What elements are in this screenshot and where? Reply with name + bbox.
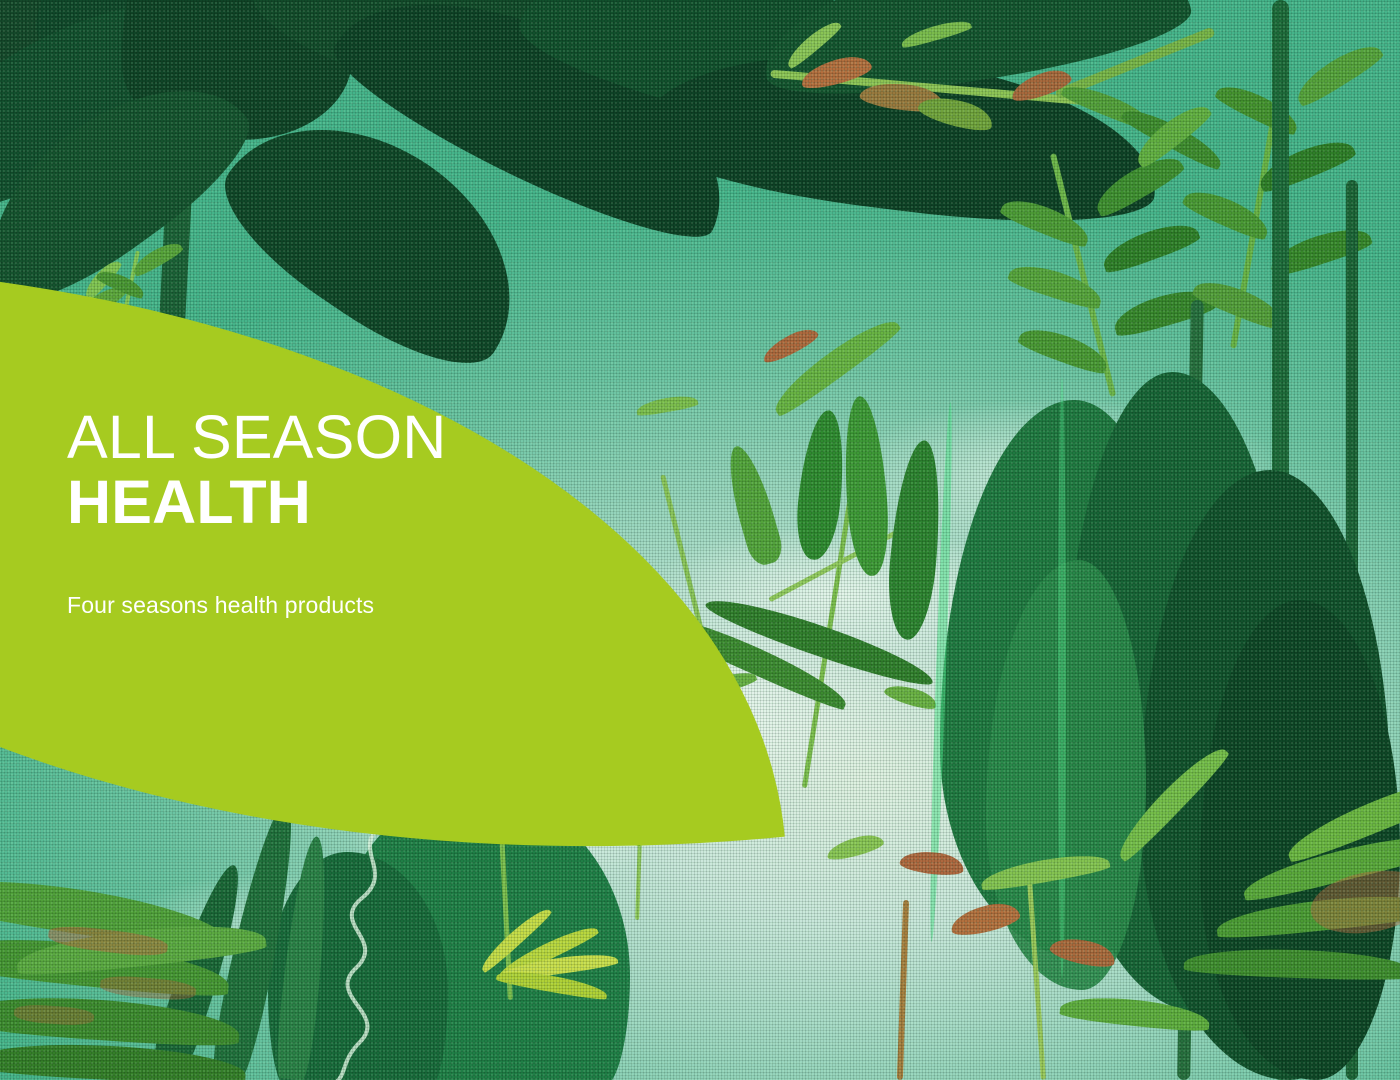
brand-copy-block: ALL SEASON HEALTH Four seasons health pr…: [67, 405, 707, 619]
page-title-line-1: ALL SEASON: [67, 405, 707, 470]
page-title-line-2: HEALTH: [67, 470, 707, 535]
page-subtitle: Four seasons health products: [67, 592, 707, 619]
poster-canvas: ALL SEASON HEALTH Four seasons health pr…: [0, 0, 1400, 1080]
